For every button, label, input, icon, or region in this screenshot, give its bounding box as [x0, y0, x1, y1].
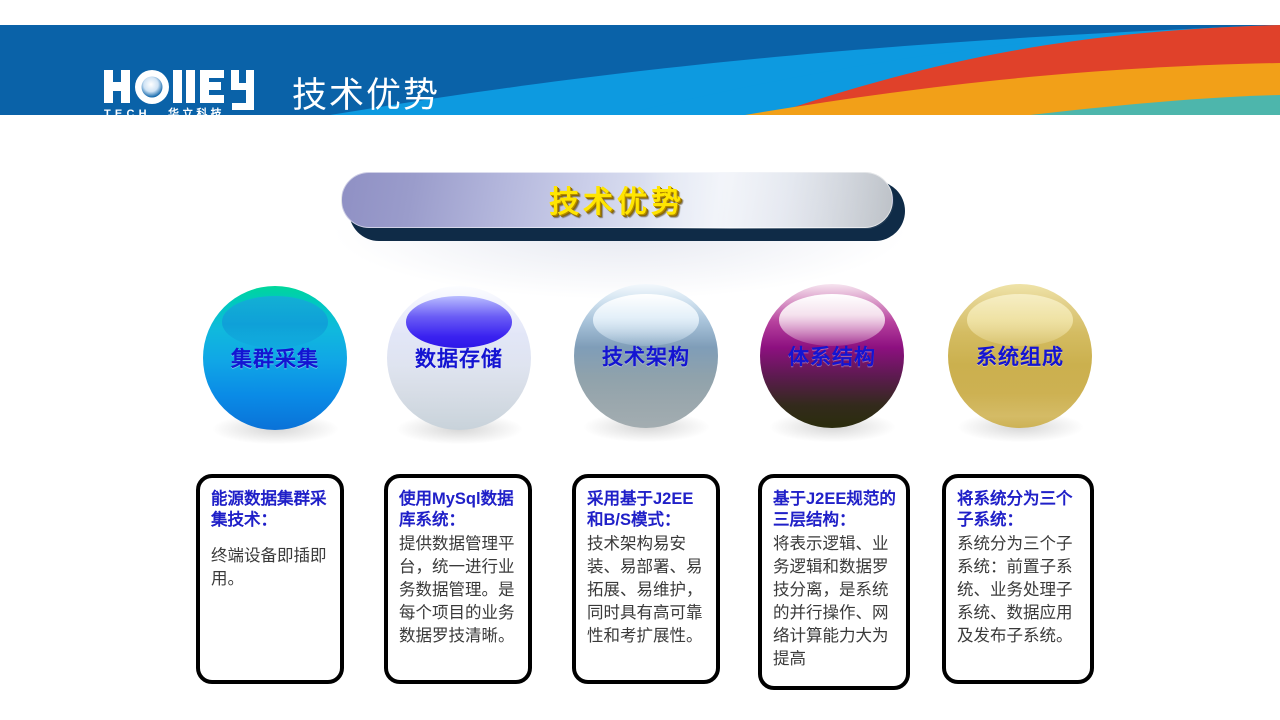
sphere-data-storage[interactable]: 数据存储 [387, 286, 531, 446]
sphere-cluster-collection[interactable]: 集群采集 [203, 286, 347, 446]
card-system-structure[interactable]: 基于J2EE规范的三层结构： 将表示逻辑、业务逻辑和数据罗技分离，是系统的并行操… [758, 474, 910, 690]
logo-subtext-glyphs: TECH 华立科技 [104, 106, 225, 115]
card-tech-architecture[interactable]: 采用基于J2EE和B/S模式： 技术架构易安装、易部署、易拓展、易维护，同时具有… [572, 474, 720, 684]
sphere-system-composition[interactable]: 系统组成 [948, 284, 1092, 444]
card-heading: 使用MySql数据库系统： [399, 489, 519, 531]
sphere-label: 数据存储 [387, 286, 531, 430]
card-heading: 采用基于J2EE和B/S模式： [587, 489, 707, 531]
svg-text:TECH: TECH [104, 108, 151, 115]
card-data-storage[interactable]: 使用MySql数据库系统： 提供数据管理平台，统一进行业务数据管理。是每个项目的… [384, 474, 532, 684]
card-body: 终端设备即插即用。 [211, 545, 331, 591]
card-body: 提供数据管理平台，统一进行业务数据管理。是每个项目的业务数据罗技清晰。 [399, 533, 519, 648]
slide-canvas: TECH 华立科技 技术优势 技术优势 集群采集 [0, 0, 1280, 720]
logo-wordmark-glyphs [104, 70, 254, 110]
card-heading: 基于J2EE规范的三层结构： [773, 489, 897, 531]
holley-logo: TECH 华立科技 [104, 69, 270, 115]
sphere-tech-architecture[interactable]: 技术架构 [574, 284, 718, 444]
sphere-system-structure[interactable]: 体系结构 [760, 284, 904, 444]
card-heading: 将系统分为三个子系统： [957, 489, 1081, 531]
sphere-label: 技术架构 [574, 284, 718, 428]
card-body: 技术架构易安装、易部署、易拓展、易维护，同时具有高可靠性和考扩展性。 [587, 533, 707, 648]
card-heading: 能源数据集群采集技术： [211, 489, 331, 531]
sphere-label: 集群采集 [203, 286, 347, 430]
svg-text:华立科技: 华立科技 [168, 106, 225, 115]
sphere-label: 系统组成 [948, 284, 1092, 428]
card-system-composition[interactable]: 将系统分为三个子系统： 系统分为三个子系统：前置子系统、业务处理子系统、数据应用… [942, 474, 1094, 684]
card-body: 将表示逻辑、业务逻辑和数据罗技分离，是系统的并行操作、网络计算能力大为提高 [773, 533, 897, 671]
page-title: 技术优势 [292, 75, 440, 115]
card-body: 系统分为三个子系统：前置子系统、业务处理子系统、数据应用及发布子系统。 [957, 533, 1081, 648]
card-cluster-collection[interactable]: 能源数据集群采集技术： 终端设备即插即用。 [196, 474, 344, 684]
sphere-label: 体系结构 [760, 284, 904, 428]
